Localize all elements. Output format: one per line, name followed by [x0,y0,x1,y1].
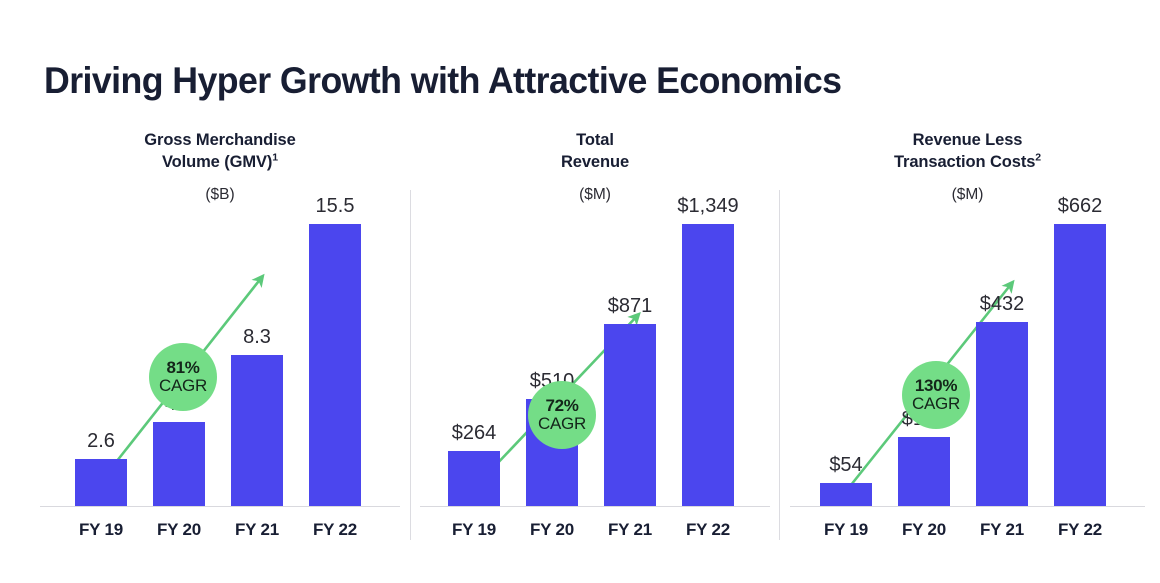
slide-root: Driving Hyper Growth with Attractive Eco… [0,0,1160,583]
chart-title: Total Revenue [420,130,770,174]
bar-value-label: $432 [980,293,1025,316]
x-axis-tick-label: FY 21 [235,520,279,540]
bar [1054,224,1106,506]
cagr-label: CAGR [538,415,586,433]
chart-title-line2: Volume (GMV) [162,153,272,171]
bar [309,224,361,506]
cagr-badge: 81%CAGR [149,343,217,411]
bar-value-label: $1,349 [677,195,738,218]
bar-value-label: 2.6 [87,430,115,453]
bar-value-label: $662 [1058,195,1103,218]
x-axis-tick-label: FY 21 [980,520,1024,540]
bar [448,451,500,506]
chart-title-line1: Revenue Less [913,131,1023,149]
chart-title-footnote: 2 [1035,151,1041,163]
bar-value-label: $264 [452,422,497,445]
bar-value-label: $54 [829,454,862,477]
x-axis-tick-label: FY 22 [313,520,357,540]
x-axis-tick-label: FY 19 [824,520,868,540]
plot-area: 2.6FY 194.6FY 208.3FY 2115.5FY 2281%CAGR [40,205,400,550]
plot-area: $264FY 19$510FY 20$871FY 21$1,349FY 2272… [420,205,770,550]
cagr-label: CAGR [159,377,207,395]
cagr-badge: 72%CAGR [528,381,596,449]
x-axis-tick-label: FY 20 [157,520,201,540]
bar [153,422,205,506]
chart-title: Gross Merchandise Volume (GMV)1 [40,130,400,174]
x-axis-line [420,506,770,507]
cagr-label: CAGR [912,395,960,413]
bar [898,437,950,506]
cagr-percent: 81% [166,359,199,377]
bar-value-label: $871 [608,295,653,318]
panel-divider [779,190,780,540]
panel-divider [410,190,411,540]
x-axis-tick-label: FY 22 [1058,520,1102,540]
plot-area: $54FY 19$161FY 20$432FY 21$662FY 22130%C… [790,205,1145,550]
chart-title-footnote: 1 [272,151,278,163]
x-axis-tick-label: FY 21 [608,520,652,540]
x-axis-tick-label: FY 22 [686,520,730,540]
bar [976,322,1028,506]
x-axis-line [40,506,400,507]
bar-value-label: 8.3 [243,326,271,349]
chart-title-line2: Transaction Costs [894,153,1035,171]
page-title: Driving Hyper Growth with Attractive Eco… [44,60,841,103]
chart-title-line1: Total [576,131,614,149]
x-axis-tick-label: FY 19 [452,520,496,540]
x-axis-tick-label: FY 19 [79,520,123,540]
bar [75,459,127,506]
chart-title: Revenue Less Transaction Costs2 [790,130,1145,174]
x-axis-line [790,506,1145,507]
chart-title-line2: Revenue [561,153,629,171]
bar [231,355,283,506]
chart-title-line1: Gross Merchandise [144,131,295,149]
bar-value-label: 15.5 [316,195,355,218]
x-axis-tick-label: FY 20 [902,520,946,540]
cagr-percent: 72% [545,397,578,415]
x-axis-tick-label: FY 20 [530,520,574,540]
bar [820,483,872,506]
chart-panel-total-revenue: Total Revenue ($M) $264FY 19$510FY 20$87… [420,130,770,550]
bar [682,224,734,506]
bar [604,324,656,506]
chart-panel-gmv: Gross Merchandise Volume (GMV)1 ($B) 2.6… [40,130,400,550]
chart-panel-revenue-less-transaction-costs: Revenue Less Transaction Costs2 ($M) $54… [790,130,1145,550]
cagr-percent: 130% [915,377,957,395]
cagr-badge: 130%CAGR [902,361,970,429]
